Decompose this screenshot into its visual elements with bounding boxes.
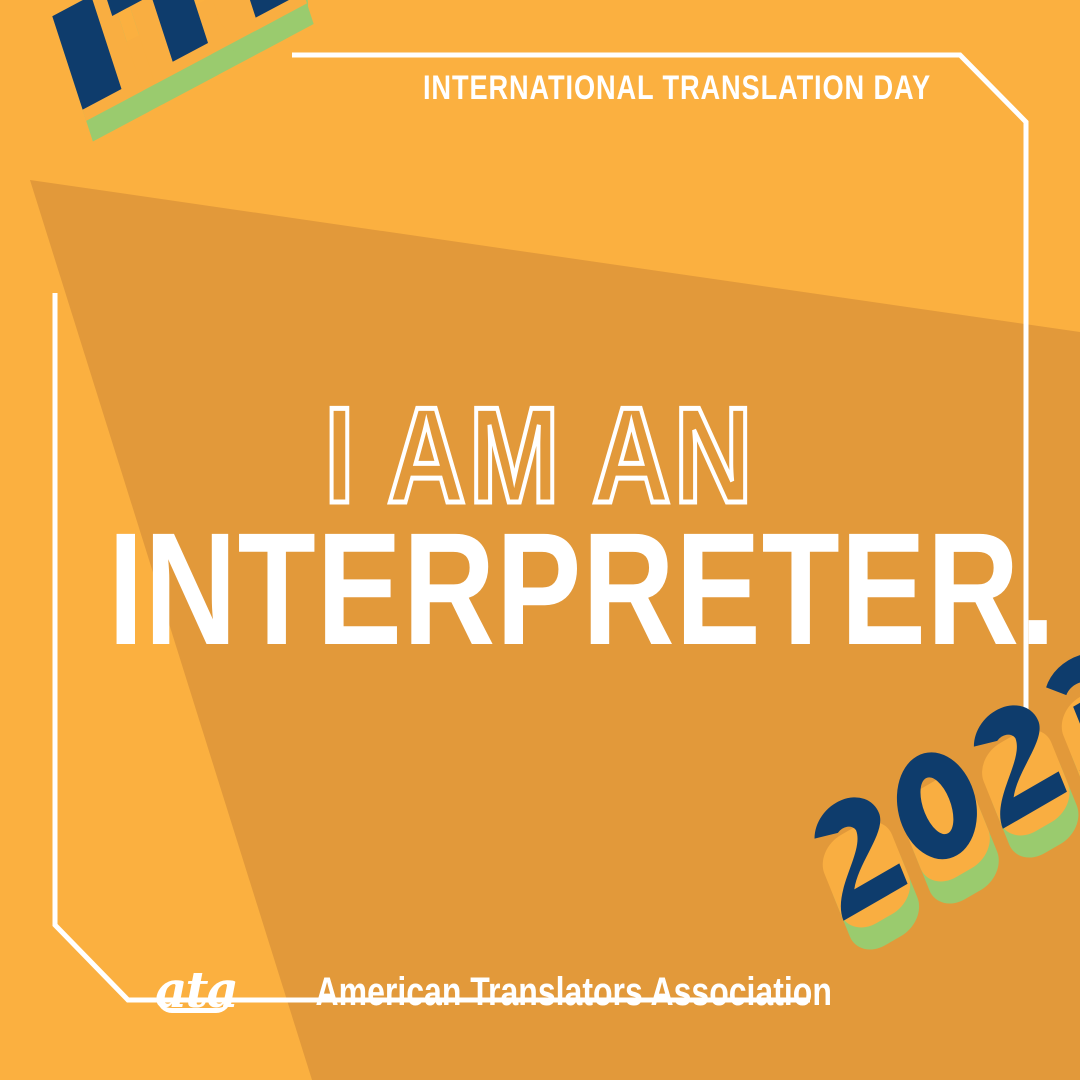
year-badge-2023	[0, 0, 1080, 1080]
poster-canvas: INTERNATIONAL TRANSLATION DAY	[0, 0, 1080, 1080]
